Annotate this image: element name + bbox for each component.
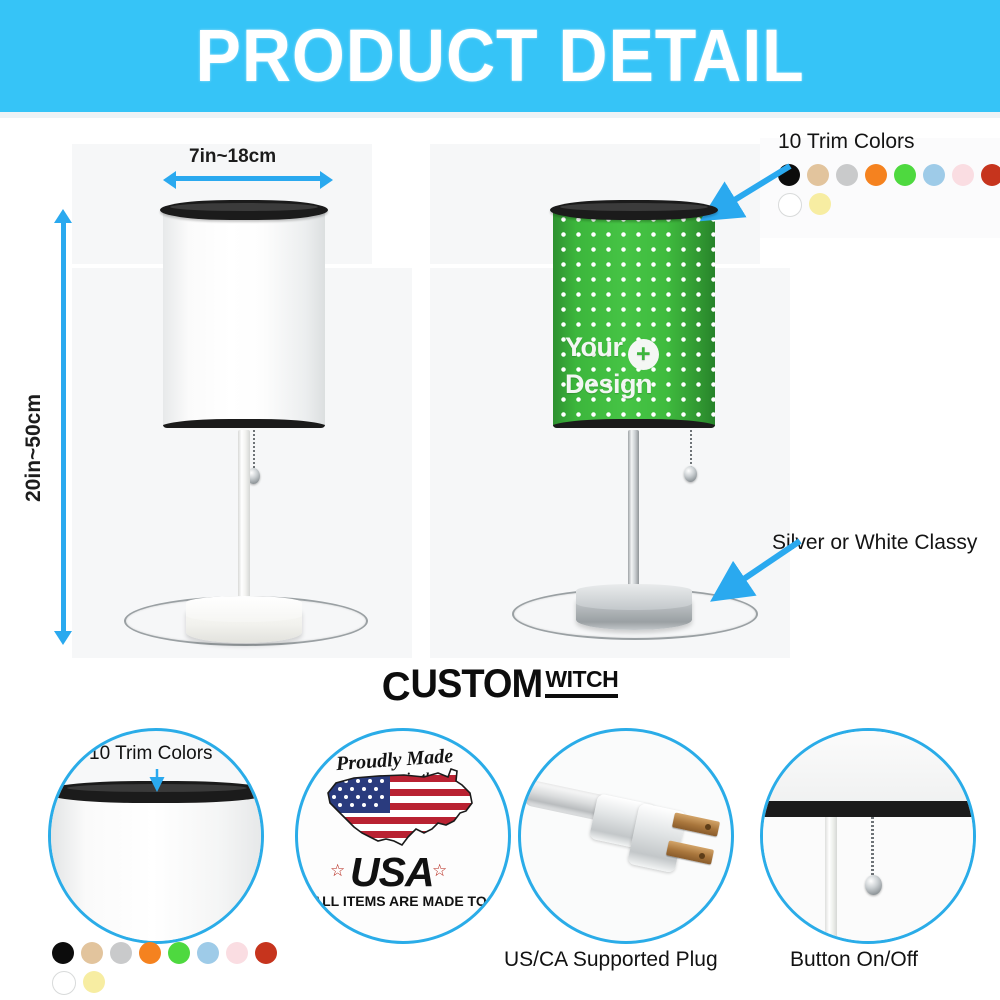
feature-circle-made-in-usa: Proudly Made in the bbox=[295, 728, 511, 944]
swatch-red[interactable] bbox=[255, 942, 277, 964]
logo-sub-text: WITCH bbox=[545, 666, 618, 698]
feature-circle-switch bbox=[760, 728, 976, 944]
trim-color-swatches bbox=[778, 164, 1000, 217]
plug-circle-caption: US/CA Supported Plug bbox=[504, 948, 718, 972]
usa-big-text: USA bbox=[350, 849, 434, 896]
pull-chain-closeup[interactable] bbox=[871, 817, 874, 879]
trim-colors-circle-caption: 10 Trim Colors bbox=[89, 743, 213, 765]
pull-chain-ball[interactable] bbox=[684, 466, 697, 482]
swatch-red[interactable] bbox=[981, 164, 1000, 186]
star-icon-left: ☆ bbox=[330, 861, 345, 881]
lamp-pole-closeup bbox=[825, 817, 837, 944]
swatch-yellow[interactable] bbox=[809, 193, 831, 215]
lamp-base-top bbox=[576, 584, 692, 610]
green-lamp-shade: Your+ Design bbox=[553, 208, 715, 428]
swatch-yellow[interactable] bbox=[83, 971, 105, 993]
pull-chain[interactable] bbox=[690, 430, 692, 470]
switch-circle-caption: Button On/Off bbox=[790, 948, 918, 972]
plug-prong-hole-top bbox=[705, 824, 711, 830]
shade-closeup-lower bbox=[760, 728, 976, 803]
page-title: PRODUCT DETAIL bbox=[195, 19, 804, 93]
plus-icon: + bbox=[628, 339, 659, 370]
your-design-text: Your+ Design bbox=[565, 333, 659, 398]
logo-c-mark: C bbox=[382, 665, 407, 710]
plug-prong-hole-bottom bbox=[699, 853, 705, 859]
white-lamp-shade bbox=[163, 208, 325, 428]
trim-colors-title: 10 Trim Colors bbox=[778, 130, 915, 154]
swatch-tan[interactable] bbox=[807, 164, 829, 186]
star-icon-right: ☆ bbox=[432, 861, 447, 881]
main-stage: 7in~18cm 20in~50cm bbox=[0, 118, 1000, 658]
shade-top-trim bbox=[160, 200, 328, 220]
swatch-tan[interactable] bbox=[81, 942, 103, 964]
swatch-gray[interactable] bbox=[836, 164, 858, 186]
header-banner: PRODUCT DETAIL bbox=[0, 0, 1000, 112]
shade-bottom-trim bbox=[553, 419, 715, 428]
shade-bottom-trim-closeup bbox=[760, 801, 976, 817]
product-detail-infographic: PRODUCT DETAIL 7in~18cm 20in~50cm bbox=[0, 0, 1000, 1000]
swatch-black[interactable] bbox=[52, 942, 74, 964]
swatch-pink[interactable] bbox=[226, 942, 248, 964]
logo-main-text: USTOM bbox=[410, 662, 542, 707]
design-line-2: Design bbox=[565, 369, 652, 399]
feature-circle-trim-colors: 10 Trim Colors bbox=[48, 728, 264, 944]
trim-colors-pointer-arrow bbox=[690, 158, 800, 228]
lamp-base-top bbox=[186, 596, 302, 622]
shade-top-trim bbox=[550, 200, 718, 220]
lamp-pole bbox=[238, 430, 250, 622]
swatch-light-blue[interactable] bbox=[197, 942, 219, 964]
swatch-gray[interactable] bbox=[110, 942, 132, 964]
trim-colors-down-arrow bbox=[147, 769, 167, 795]
shade-closeup-body bbox=[48, 793, 264, 944]
feature-circle-plug bbox=[518, 728, 734, 944]
swatch-orange[interactable] bbox=[865, 164, 887, 186]
bottom-trim-color-swatches bbox=[52, 942, 302, 995]
base-finish-pointer-arrow bbox=[700, 533, 810, 608]
swatch-pink[interactable] bbox=[952, 164, 974, 186]
swatch-white[interactable] bbox=[52, 971, 76, 995]
usa-footer-text: ALL ITEMS ARE MADE TO ORDER! bbox=[312, 893, 511, 909]
pull-chain-ball-closeup[interactable] bbox=[865, 875, 882, 895]
swatch-light-blue[interactable] bbox=[923, 164, 945, 186]
width-dimension-label: 7in~18cm bbox=[189, 146, 276, 168]
usa-flag-map-icon bbox=[320, 767, 488, 859]
brand-logo: CUSTOMWITCH bbox=[0, 662, 1000, 708]
pull-chain[interactable] bbox=[253, 430, 255, 472]
height-dimension-label: 20in~50cm bbox=[22, 394, 46, 502]
design-line-1: Your bbox=[565, 332, 623, 362]
swatch-orange[interactable] bbox=[139, 942, 161, 964]
shade-bottom-trim bbox=[163, 419, 325, 428]
swatch-green[interactable] bbox=[894, 164, 916, 186]
swatch-green[interactable] bbox=[168, 942, 190, 964]
